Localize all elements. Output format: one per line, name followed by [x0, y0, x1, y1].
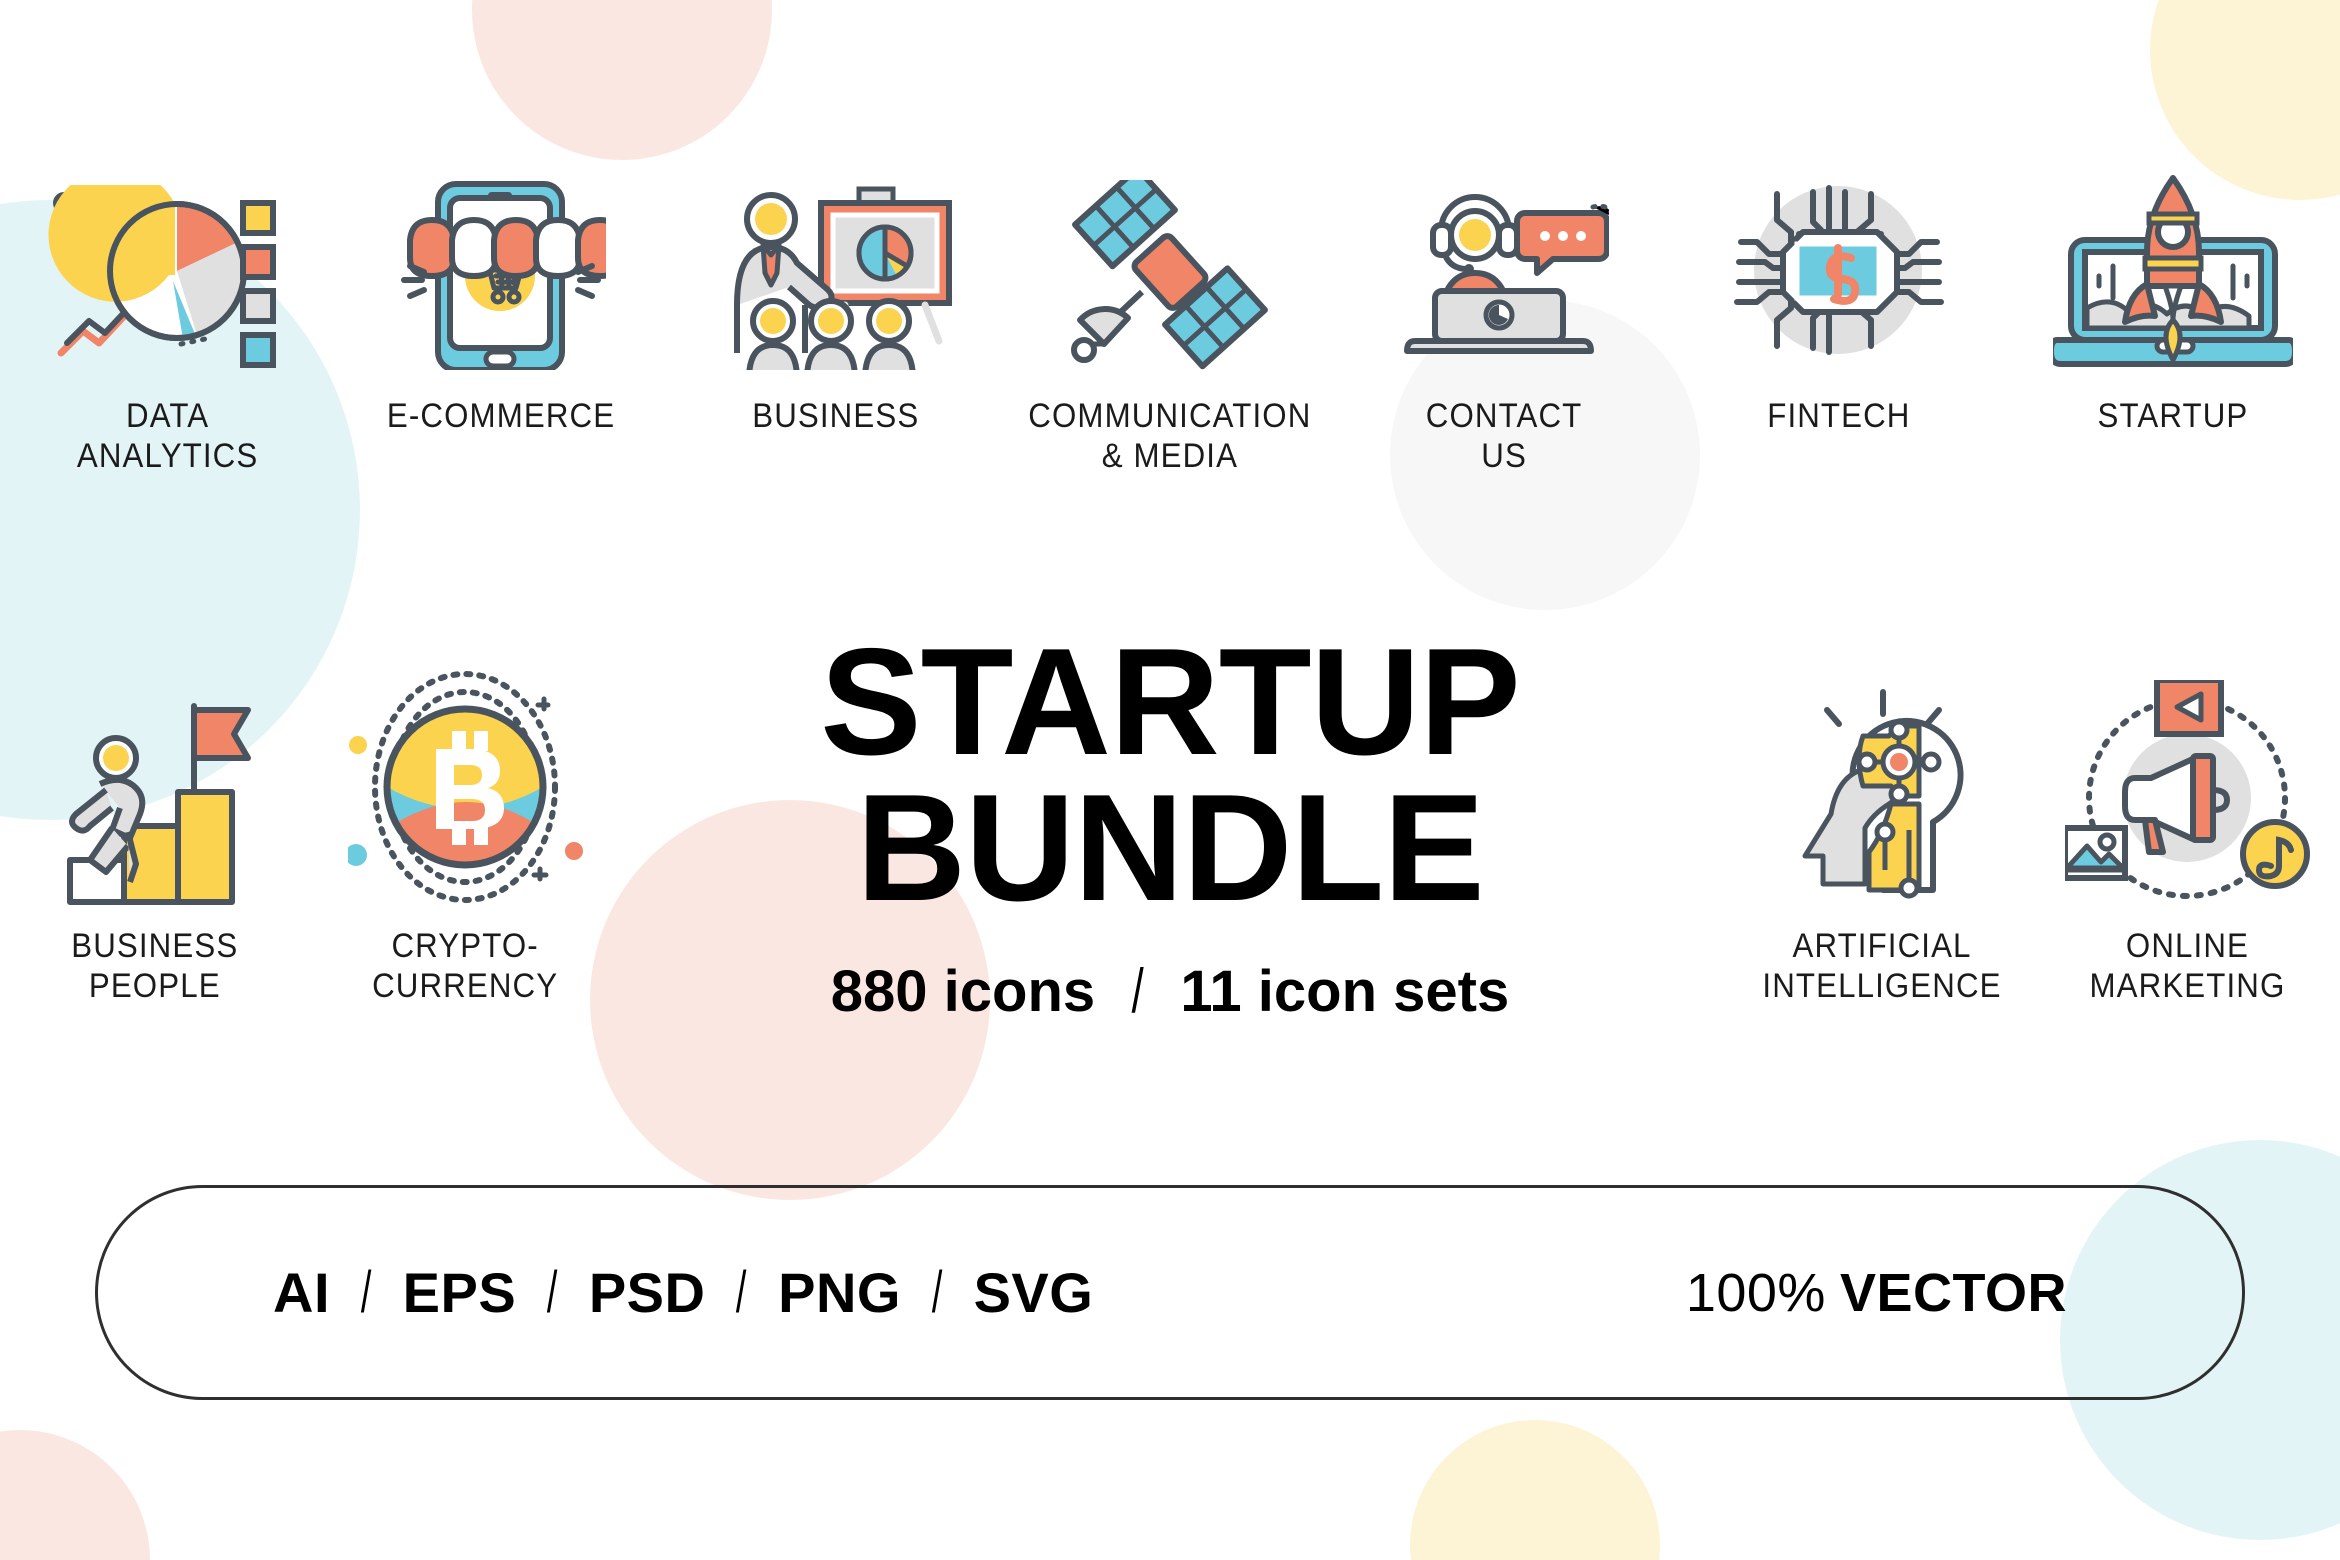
- formats-banner: AI / EPS / PSD / PNG / SVG 100% VECTOR: [95, 1185, 2245, 1400]
- satellite-icon: [1062, 120, 1277, 370]
- headline-stats: 880 icons / 11 icon sets: [640, 956, 1700, 1027]
- title-line-1: STARTUP: [640, 630, 1700, 776]
- icon-cell-label: ARTIFICIAL INTELLIGENCE: [1763, 926, 2002, 1006]
- format-separator: /: [547, 1259, 558, 1326]
- presentation-team-icon: [711, 120, 961, 370]
- icon-cell-label: CRYPTO- CURRENCY: [372, 926, 558, 1006]
- mobile-shop-cart-icon: [396, 120, 606, 370]
- bottom-right-cluster: ARTIFICIAL INTELLIGENCE: [1730, 640, 2340, 1006]
- vector-label: VECTOR: [1840, 1262, 2067, 1324]
- format-separator: /: [361, 1259, 372, 1326]
- format-eps: EPS: [403, 1260, 517, 1325]
- icon-cell-cryptocurrency[interactable]: CRYPTO- CURRENCY: [310, 640, 620, 1006]
- icon-cell-label: ONLINE MARKETING: [2090, 926, 2286, 1006]
- stairs-flag-person-icon: [48, 640, 263, 910]
- icon-cell-label: BUSINESS: [752, 396, 919, 436]
- ai-head-circuit-icon: [1793, 640, 1973, 910]
- microchip-dollar-icon: [1731, 120, 1946, 370]
- icon-cell-fintech[interactable]: FINTECH: [1671, 120, 2005, 476]
- icon-cell-startup[interactable]: STARTUP: [2006, 120, 2340, 476]
- format-psd: PSD: [589, 1260, 706, 1325]
- format-ai: AI: [273, 1260, 330, 1325]
- format-png: PNG: [778, 1260, 901, 1325]
- vector-percent: 100%: [1686, 1262, 1826, 1324]
- pie-chart-analytics-icon: [47, 120, 287, 370]
- file-formats-list: AI / EPS / PSD / PNG / SVG: [273, 1259, 1093, 1326]
- stat-icon-count: 880 icons: [831, 958, 1095, 1025]
- bitcoin-coin-icon: [348, 640, 583, 910]
- laptop-rocket-icon: [2053, 120, 2293, 370]
- title-line-2: BUNDLE: [640, 776, 1700, 922]
- page-title: STARTUP BUNDLE: [640, 630, 1700, 922]
- support-headset-laptop-icon: [1399, 120, 1609, 370]
- icon-cell-label: FINTECH: [1767, 396, 1910, 436]
- icon-cell-label: DATA ANALYTICS: [76, 396, 257, 476]
- icon-cell-online-marketing[interactable]: ONLINE MARKETING: [2035, 640, 2340, 1006]
- headline-block: STARTUP BUNDLE 880 icons / 11 icon sets: [640, 630, 1700, 1027]
- format-separator: /: [736, 1259, 747, 1326]
- megaphone-media-icon: [2065, 640, 2310, 910]
- icon-cell-ecommerce[interactable]: E-COMMERCE: [334, 120, 668, 476]
- icon-cell-artificial-intelligence[interactable]: ARTIFICIAL INTELLIGENCE: [1730, 640, 2035, 1006]
- icon-cell-label: E-COMMERCE: [387, 396, 615, 436]
- top-icon-row: DATA ANALYTICS: [0, 120, 2340, 476]
- icon-cell-communication-media[interactable]: COMMUNICATION & MEDIA: [1003, 120, 1337, 476]
- icon-cell-data-analytics[interactable]: DATA ANALYTICS: [0, 120, 334, 476]
- format-separator: /: [932, 1259, 943, 1326]
- icon-cell-label: BUSINESS PEOPLE: [71, 926, 238, 1006]
- poster-canvas: DATA ANALYTICS: [0, 0, 2340, 1560]
- icon-cell-business[interactable]: BUSINESS: [669, 120, 1003, 476]
- icon-cell-label: COMMUNICATION & MEDIA: [1028, 396, 1311, 476]
- stat-separator: /: [1132, 956, 1144, 1027]
- icon-cell-contact-us[interactable]: CONTACT US: [1337, 120, 1671, 476]
- icon-cell-label: STARTUP: [2097, 396, 2248, 436]
- format-svg: SVG: [974, 1260, 1094, 1325]
- icon-cell-label: CONTACT US: [1426, 396, 1583, 476]
- vector-claim: 100% VECTOR: [1686, 1262, 2067, 1324]
- icon-cell-business-people[interactable]: BUSINESS PEOPLE: [0, 640, 310, 1006]
- bottom-left-cluster: BUSINESS PEOPLE: [0, 640, 620, 1006]
- stat-set-count: 11 icon sets: [1180, 958, 1509, 1025]
